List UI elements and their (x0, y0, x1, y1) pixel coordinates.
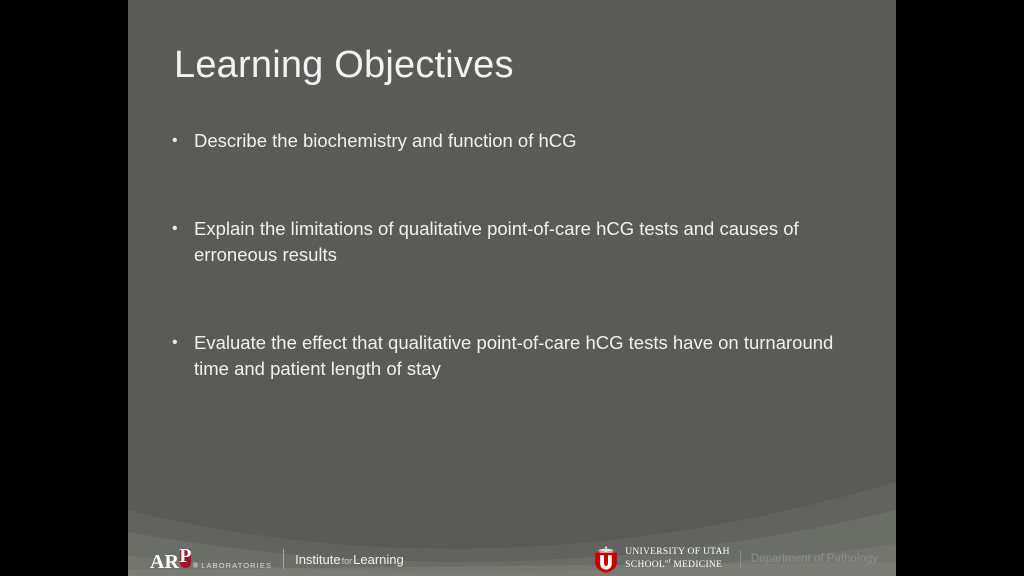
medicine-word: MEDICINE (673, 561, 722, 571)
university-name: UNIVERSITY OF UTAH SCHOOLof MEDICINE (625, 547, 730, 571)
university-line-2: SCHOOLof MEDICINE (625, 557, 730, 571)
university-branding: UNIVERSITY OF UTAH SCHOOLof MEDICINE Dep… (593, 546, 878, 572)
institute-for-word: for (341, 556, 354, 566)
arup-logo-subtitle: LABORATORIES (201, 561, 272, 571)
list-item-text: Describe the biochemistry and function o… (194, 128, 858, 154)
page-title: Learning Objectives (174, 44, 514, 87)
institute-for-learning-label: InstituteforLearning (295, 552, 404, 567)
test-tube-icon: P (179, 547, 192, 568)
university-of-utah-shield-icon (593, 546, 619, 573)
objectives-list: • Describe the biochemistry and function… (168, 128, 858, 444)
slide-viewer: Learning Objectives • Describe the bioch… (0, 0, 1024, 576)
slide-footer: AR P ® LABORATORIES InstituteforLearning (128, 536, 896, 576)
registered-mark-icon: ® (193, 562, 198, 570)
footer-divider-right (740, 550, 741, 569)
school-word: SCHOOL (625, 561, 665, 571)
list-item: • Explain the limitations of qualitative… (168, 216, 858, 268)
department-label: Department of Pathology (751, 553, 878, 565)
university-line-1: UNIVERSITY OF UTAH (625, 547, 730, 558)
arup-branding: AR P ® LABORATORIES InstituteforLearning (150, 546, 404, 572)
list-item: • Evaluate the effect that qualitative p… (168, 330, 858, 382)
bullet-icon: • (168, 330, 194, 356)
institute-learning-word: Learning (353, 552, 404, 567)
list-item-text: Evaluate the effect that qualitative poi… (194, 330, 858, 382)
institute-word: Institute (295, 552, 341, 567)
arup-logo-tube-letter: P (179, 546, 192, 568)
arup-logo-letters: AR (150, 552, 179, 572)
presentation-slide: Learning Objectives • Describe the bioch… (128, 0, 896, 576)
footer-divider-left (283, 549, 284, 569)
bullet-icon: • (168, 128, 194, 154)
of-word: of (665, 559, 671, 565)
list-item: • Describe the biochemistry and function… (168, 128, 858, 154)
list-item-text: Explain the limitations of qualitative p… (194, 216, 858, 268)
arup-logo: AR P ® LABORATORIES (150, 547, 272, 571)
bullet-icon: • (168, 216, 194, 242)
